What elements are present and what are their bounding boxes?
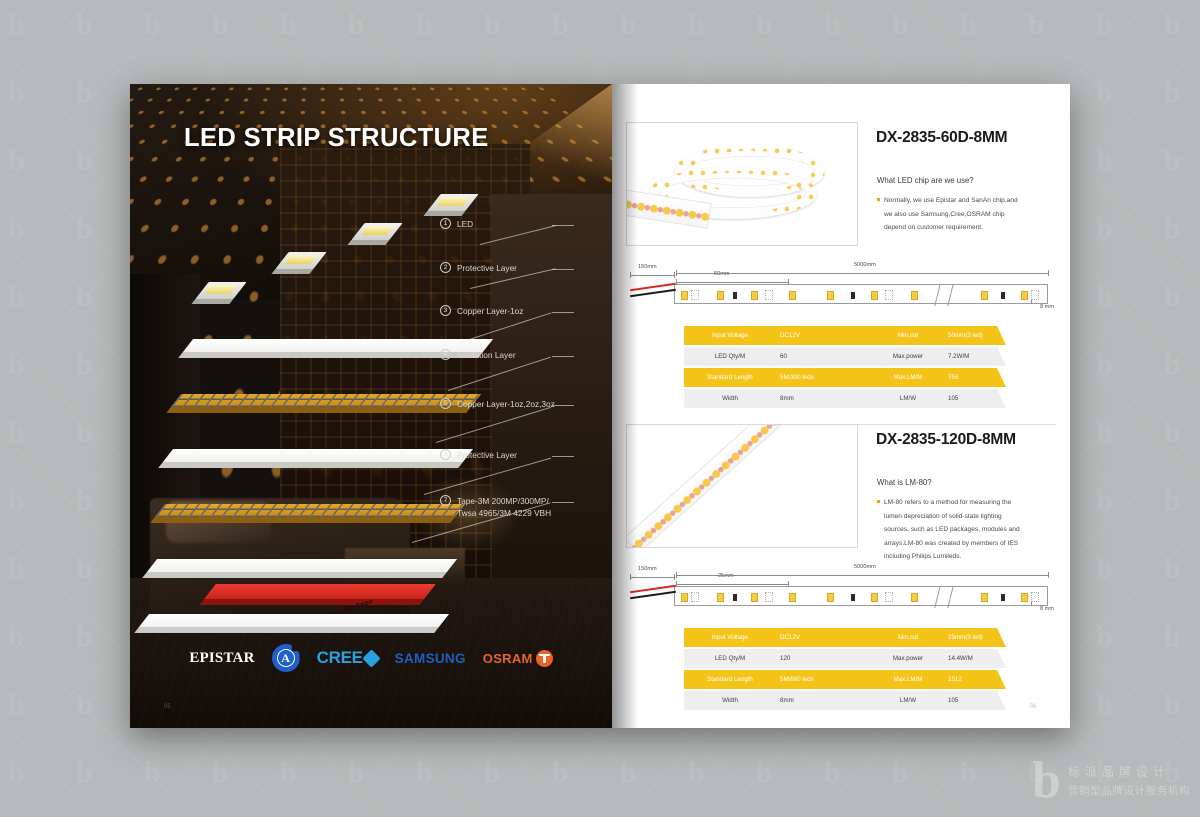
background-watermark-glyph: b (416, 10, 433, 40)
background-watermark-glyph: b (552, 10, 569, 40)
dim-total-length: 5000mm (854, 564, 876, 570)
background-watermark-glyph: b (1028, 10, 1045, 40)
layer-protective-bottom (147, 559, 457, 572)
callout-label: Copper Layer-1oz (457, 305, 523, 317)
callout-label: LED (457, 218, 473, 230)
background-watermark-glyph: b (76, 622, 93, 652)
callout-label: Protective Layer (457, 449, 517, 461)
background-watermark-glyph: b (484, 758, 501, 788)
dim-total-length: 5000mm (854, 262, 876, 268)
background-watermark-glyph: b (1096, 690, 1113, 720)
spec-key-1: Standard Length (684, 374, 776, 381)
background-watermark-glyph: b (1164, 10, 1181, 40)
background-watermark-glyph: b (76, 758, 93, 788)
background-watermark-glyph: b (1096, 622, 1113, 652)
spec-value-1: DC12V (776, 332, 872, 339)
background-watermark-glyph: b (8, 690, 25, 720)
spec-key-2: Min.cut (872, 634, 944, 641)
brand-sanan: A (272, 644, 300, 672)
spec-value-1: 5M/600 leds (776, 676, 872, 683)
background-watermark-glyph: b (348, 10, 365, 40)
spec-key-1: Input Voltage (684, 332, 776, 339)
background-watermark-glyph: b (1096, 78, 1113, 108)
callout-item-3: 3 Copper Layer-1oz (440, 305, 523, 317)
background-watermark-glyph: b (620, 758, 637, 788)
background-watermark-glyph: b (212, 758, 229, 788)
watermark-text: 标派品牌设计 营销型品牌设计服务机构 (1068, 763, 1190, 798)
callout-number: 2 (440, 262, 451, 273)
dim-width: 8 mm (1040, 606, 1054, 612)
spec-key-2: Min.cut (872, 332, 944, 339)
spec-key-1: Width (684, 395, 776, 402)
callout-item-5: 5 Copper Layer-1oz,2oz,3oz (440, 398, 555, 410)
watermark-line-1: 标派品牌设计 (1068, 763, 1190, 780)
callout-list: 1 LED 2 Protective Layer 3 Copper Layer-… (440, 84, 612, 728)
background-watermark-glyph: b (1096, 282, 1113, 312)
spec-value-2: 1512 (944, 676, 1006, 683)
product-block-2: DX-2835-120D-8MM What is LM-80? LM-80 re… (612, 424, 1070, 724)
cree-diamond-icon (362, 649, 380, 667)
background-watermark-glyph: b (892, 10, 909, 40)
spec-value-2: 50mm(3 led) (944, 332, 1006, 339)
background-watermark-glyph: b (688, 758, 705, 788)
led-strip-dense (627, 425, 857, 547)
callout-item-4: 4 Insulation Layer (440, 349, 516, 361)
callout-number: 1 (440, 218, 451, 229)
dim-pitch: 25mm (718, 573, 734, 579)
spec-key-1: Width (684, 697, 776, 704)
callout-label: Insulation Layer (457, 349, 516, 361)
background-watermark-glyph: b (212, 10, 229, 40)
product-answer-2: LM-80 refers to a method for measuring t… (884, 496, 1027, 564)
callout-item-7: 7 Tape-3M 200MP/300MP/ Twsa 4965/3M 4229… (440, 495, 551, 520)
background-watermark-glyph: b (1164, 146, 1181, 176)
cree-wordmark: CREE (317, 648, 363, 668)
background-watermark-glyph: b (1096, 350, 1113, 380)
background-watermark-glyph: b (8, 418, 25, 448)
layer-3m-tape (204, 584, 436, 599)
osram-mark-icon (536, 650, 553, 667)
spec-table-1: Input Voltage DC12V Min.cut 50mm(3 led) … (684, 326, 1006, 410)
background-watermark-glyph: b (960, 10, 977, 40)
table-row: Standard Length 5M/600 leds Max.LM/M 151… (684, 670, 1006, 689)
left-page-number: 05 (164, 704, 171, 710)
background-watermark-glyph: b (76, 350, 93, 380)
background-watermark-glyph: b (8, 10, 25, 40)
epistar-wordmark: EPISTAR (189, 650, 254, 667)
table-row: Input Voltage DC12V Min.cut 25mm(3 led) (684, 628, 1006, 647)
spec-value-1: 5M/300 leds (776, 374, 872, 381)
technical-drawing-2: 150mm 25mm 5000mm (626, 564, 1056, 612)
spec-key-2: LM/W (872, 395, 944, 402)
spec-key-2: Max.power (872, 655, 944, 662)
background-watermark-glyph: b (280, 758, 297, 788)
spec-value-1: 8mm (776, 395, 872, 402)
layer-copper-bottom (155, 504, 465, 517)
spec-key-2: Max.LM/M (872, 676, 944, 683)
spec-key-2: Max.power (872, 353, 944, 360)
product-question-1: What LED chip are we use? (877, 176, 974, 185)
background-watermark-glyph: b (1164, 690, 1181, 720)
spec-value-2: 105 (944, 697, 1006, 704)
background-watermark-glyph: b (76, 78, 93, 108)
brand-samsung: SAMSUNG (395, 651, 466, 666)
background-watermark-glyph: b (1164, 214, 1181, 244)
background-watermark-glyph: b (1164, 622, 1181, 652)
product-answer-1: Normally, we use Epistar and SanAn chip,… (884, 194, 1027, 235)
layer-liner (139, 614, 449, 627)
background-watermark-glyph: b (144, 10, 161, 40)
dim-lead-length: 150mm (638, 264, 657, 270)
background-watermark-glyph: b (76, 10, 93, 40)
spec-value-1: 120 (776, 655, 872, 662)
background-watermark-glyph: b (76, 214, 93, 244)
background-watermark-glyph: b (1164, 282, 1181, 312)
product-answer-wrap-1: Normally, we use Epistar and SanAn chip,… (877, 194, 1027, 235)
background-watermark-glyph: b (8, 486, 25, 516)
layer-insulation (163, 449, 473, 462)
background-watermark-glyph: b (620, 10, 637, 40)
bullet-icon (877, 198, 880, 201)
background-watermark-glyph: b (8, 758, 25, 788)
background-watermark-glyph: b (1164, 486, 1181, 516)
callout-number: 5 (440, 398, 451, 409)
table-row: Width 8mm LM/W 105 (684, 389, 1006, 408)
spec-value-2: 14.4W/M (944, 655, 1006, 662)
background-watermark-glyph: b (1164, 350, 1181, 380)
spec-key-2: LM/W (872, 697, 944, 704)
background-watermark-glyph: b (8, 214, 25, 244)
background-watermark-glyph: b (552, 758, 569, 788)
led-chip (195, 282, 246, 299)
background-watermark-glyph: b (76, 554, 93, 584)
right-page-number: 06 (1029, 704, 1036, 710)
sanan-logo: A (277, 649, 295, 667)
background-watermark-glyph: b (1096, 554, 1113, 584)
strip-diagonal (626, 424, 833, 548)
technical-drawing-1: 150mm 50mm 5000mm (626, 262, 1056, 310)
spec-key-1: Standard Length (684, 676, 776, 683)
callout-label: Copper Layer-1oz,2oz,3oz (457, 398, 555, 410)
left-page: LED STRIP STRUCTURE (130, 84, 612, 728)
callout-label-line2: Twsa 4965/3M 4229 VBH (457, 508, 551, 518)
background-watermark-glyph: b (8, 622, 25, 652)
callout-item-2: 2 Protective Layer (440, 262, 517, 274)
background-watermark-glyph: b (8, 78, 25, 108)
background-watermark-glyph: b (688, 10, 705, 40)
table-row: Width 8mm LM/W 105 (684, 691, 1006, 710)
background-watermark-glyph: b (76, 146, 93, 176)
background-watermark-glyph: b (484, 10, 501, 40)
product-question-2: What is LM-80? (877, 478, 932, 487)
led-strip-reel (627, 123, 857, 245)
layer-copper-top (171, 394, 481, 407)
dim-lead-length: 150mm (638, 566, 657, 572)
brochure-spread: LED STRIP STRUCTURE (130, 84, 1070, 728)
background-watermark-glyph: b (756, 758, 773, 788)
callout-number: 6 (440, 449, 451, 460)
spec-value-1: 60 (776, 353, 872, 360)
background-watermark-glyph: b (892, 758, 909, 788)
spec-value-1: 8mm (776, 697, 872, 704)
strip-outline (674, 586, 1048, 606)
dim-width: 8 mm (1040, 304, 1054, 310)
callout-item-6: 6 Protective Layer (440, 449, 517, 461)
brand-cree: CREE (317, 648, 378, 668)
callout-number: 7 (440, 495, 451, 506)
spec-key-1: Input Voltage (684, 634, 776, 641)
table-row: Standard Length 5M/300 leds Max.LM/M 756 (684, 368, 1006, 387)
watermark-logo: b (1032, 759, 1061, 803)
background-watermark-glyph: b (1096, 146, 1113, 176)
product-answer-wrap-2: LM-80 refers to a method for measuring t… (877, 496, 1027, 564)
product-block-1: DX-2835-60D-8MM What LED chip are we use… (612, 122, 1070, 422)
spec-value-2: 756 (944, 374, 1006, 381)
bullet-icon (877, 500, 880, 503)
callout-label-wrap: Tape-3M 200MP/300MP/ Twsa 4965/3M 4229 V… (457, 495, 551, 520)
table-row: Input Voltage DC12V Min.cut 50mm(3 led) (684, 326, 1006, 345)
product-photo-1 (626, 122, 858, 246)
chip-brand-logos: EPISTAR A CREE SAMSUNG OSRAM (130, 644, 612, 672)
background-watermark-glyph: b (8, 146, 25, 176)
background-watermark-glyph: b (1096, 214, 1113, 244)
background-watermark-glyph: b (416, 758, 433, 788)
led-chip (275, 252, 326, 269)
led-chip (351, 223, 402, 240)
background-watermark-glyph: b (1096, 418, 1113, 448)
spec-value-2: 105 (944, 395, 1006, 402)
background-watermark-glyph: b (76, 418, 93, 448)
spec-table-2: Input Voltage DC12V Min.cut 25mm(3 led) … (684, 628, 1006, 712)
callout-item-1: 1 LED (440, 218, 473, 230)
background-watermark-glyph: b (1164, 554, 1181, 584)
background-watermark-glyph: b (824, 10, 841, 40)
background-watermark-glyph: b (76, 690, 93, 720)
spec-key-2: Max.LM/M (872, 374, 944, 381)
spec-value-1: DC12V (776, 634, 872, 641)
table-row: LED Qty/M 60 Max.power 7.2W/M (684, 347, 1006, 366)
watermark-line-2: 营销型品牌设计服务机构 (1068, 783, 1190, 798)
background-watermark-glyph: b (8, 350, 25, 380)
product-title-2: DX-2835-120D-8MM (876, 431, 1016, 449)
brand-epistar: EPISTAR (189, 650, 254, 667)
product-photo-2 (626, 424, 858, 548)
callout-number: 3 (440, 305, 451, 316)
spec-key-1: LED Qty/M (684, 353, 776, 360)
background-watermark-glyph: b (824, 758, 841, 788)
background-watermark-glyph: b (960, 758, 977, 788)
strip-outline (674, 284, 1048, 304)
background-watermark-glyph: b (1164, 78, 1181, 108)
background-watermark-glyph: b (1096, 10, 1113, 40)
samsung-wordmark: SAMSUNG (395, 651, 466, 666)
osram-wordmark: OSRAM (483, 651, 533, 666)
spec-value-2: 7.2W/M (944, 353, 1006, 360)
spec-value-2: 25mm(3 led) (944, 634, 1006, 641)
background-watermark-glyph: b (348, 758, 365, 788)
table-row: LED Qty/M 120 Max.power 14.4W/M (684, 649, 1006, 668)
background-watermark-glyph: b (756, 10, 773, 40)
spec-key-1: LED Qty/M (684, 655, 776, 662)
callout-label: Tape-3M 200MP/300MP/ (457, 496, 549, 506)
background-watermark-glyph: b (8, 282, 25, 312)
background-watermark-glyph: b (1164, 418, 1181, 448)
background-watermark-glyph: b (8, 554, 25, 584)
product-title-1: DX-2835-60D-8MM (876, 129, 1007, 147)
brand-osram: OSRAM (483, 650, 553, 667)
right-page: DX-2835-60D-8MM What LED chip are we use… (612, 84, 1070, 728)
background-watermark-glyph: b (280, 10, 297, 40)
background-watermark-glyph: b (76, 486, 93, 516)
callout-label: Protective Layer (457, 262, 517, 274)
background-watermark-glyph: b (144, 758, 161, 788)
dim-pitch: 50mm (714, 271, 730, 277)
watermark: b 标派品牌设计 营销型品牌设计服务机构 (1032, 759, 1190, 803)
callout-number: 4 (440, 349, 451, 360)
background-watermark-glyph: b (1096, 486, 1113, 516)
background-watermark-glyph: b (76, 282, 93, 312)
